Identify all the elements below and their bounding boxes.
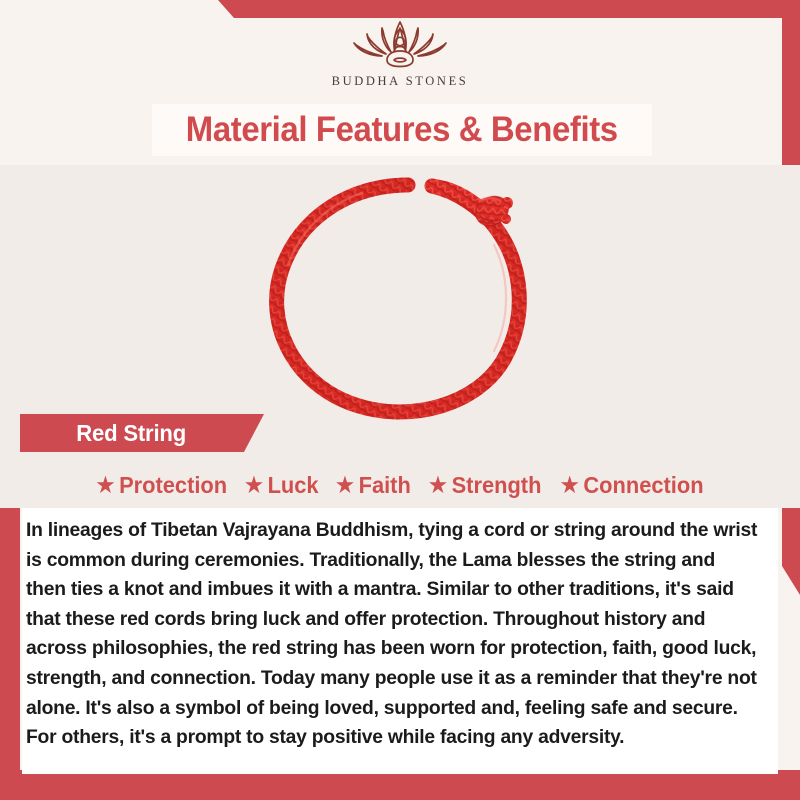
star-icon: ★ — [561, 475, 579, 496]
feature-label: Connection — [583, 472, 703, 499]
star-icon: ★ — [429, 475, 447, 496]
description-text: In lineages of Tibetan Vajrayana Buddhis… — [26, 516, 759, 753]
title-banner: Material Features & Benefits — [152, 104, 652, 156]
star-icon: ★ — [96, 475, 114, 496]
feature-label: Luck — [268, 472, 319, 499]
product-photo — [0, 165, 800, 508]
feature-item-connection: ★ Connection — [561, 472, 704, 499]
brand-logo: BUDDHA STONES — [0, 16, 800, 100]
description-block: In lineages of Tibetan Vajrayana Buddhis… — [22, 508, 778, 774]
feature-item-luck: ★ Luck — [245, 472, 319, 499]
feature-list: ★ Protection ★ Luck ★ Faith ★ Strength ★… — [0, 466, 800, 504]
page-title: Material Features & Benefits — [186, 110, 618, 150]
lotus-meditation-icon — [334, 16, 466, 72]
red-braided-cord-bracelet-icon — [242, 173, 562, 425]
infographic-card: BUDDHA STONES Material Features & Benefi… — [0, 0, 800, 800]
feature-label: Strength — [451, 472, 541, 499]
product-label: Red String — [76, 420, 186, 447]
feature-label: Protection — [119, 472, 227, 499]
decor-bottom-bar — [0, 770, 800, 800]
product-label-ribbon: Red String — [20, 414, 264, 452]
feature-item-faith: ★ Faith — [336, 472, 411, 499]
feature-item-strength: ★ Strength — [429, 472, 541, 499]
star-icon: ★ — [336, 475, 354, 496]
brand-name: BUDDHA STONES — [332, 74, 469, 89]
star-icon: ★ — [245, 475, 263, 496]
feature-item-protection: ★ Protection — [96, 472, 227, 499]
feature-label: Faith — [358, 472, 410, 499]
